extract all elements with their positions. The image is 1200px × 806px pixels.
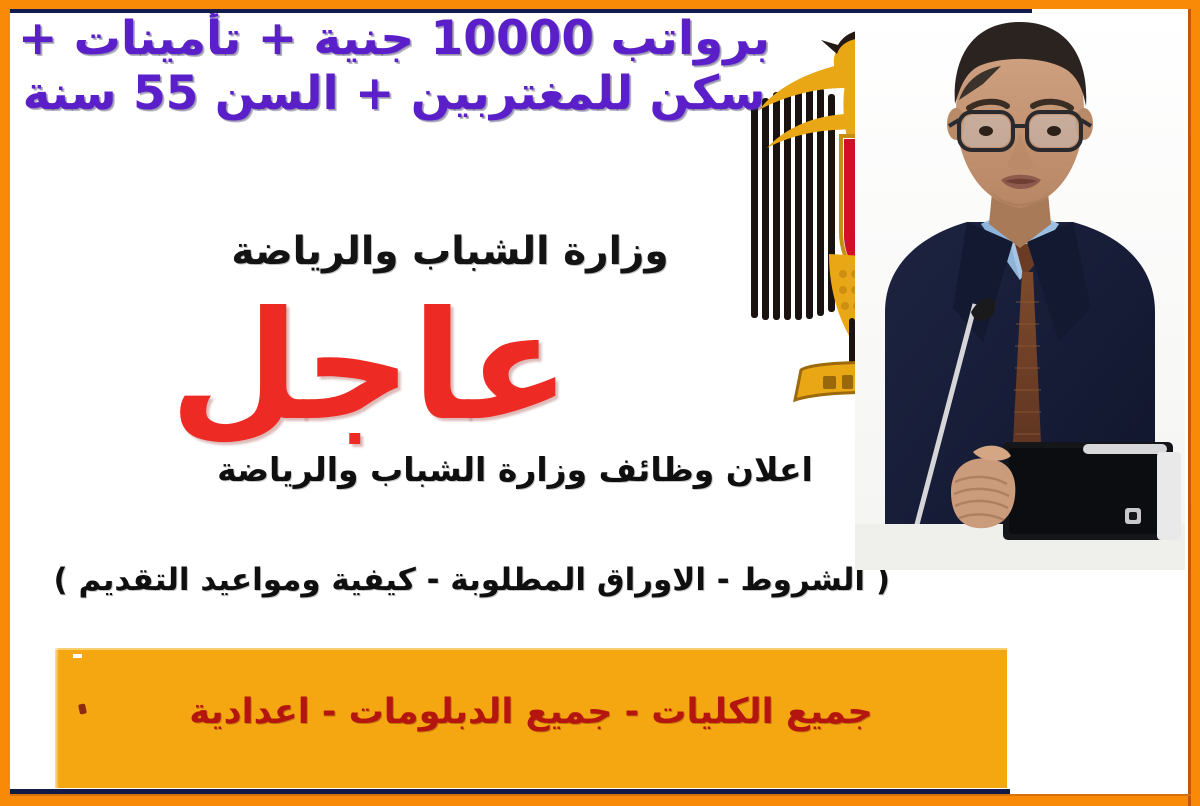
eligibility-banner: جميع الكليات - جميع الدبلومات - اعدادية bbox=[55, 648, 1007, 788]
ministry-name: وزارة الشباب والرياضة bbox=[170, 232, 730, 273]
frame-border-right bbox=[1191, 0, 1200, 806]
frame-border-bottom bbox=[0, 796, 1200, 806]
urgent-banner: عاجل bbox=[0, 292, 740, 452]
frame-inner-line-bottom bbox=[10, 794, 1191, 796]
government-official-photo bbox=[855, 12, 1185, 570]
announcement-title: اعلان وظائف وزارة الشباب والرياضة bbox=[170, 452, 860, 488]
frame-border-left bbox=[0, 0, 10, 806]
headline-line-1: برواتب 10000 جنية + تأمينات + bbox=[14, 14, 774, 65]
navy-divider-top bbox=[10, 9, 1032, 13]
eligibility-banner-text: جميع الكليات - جميع الدبلومات - اعدادية bbox=[55, 648, 1007, 788]
headline-salary-benefits: برواتب 10000 جنية + تأمينات + سكن للمغتر… bbox=[14, 14, 774, 120]
frame-border-top bbox=[0, 0, 1200, 9]
frame-inner-line-right bbox=[1188, 9, 1191, 806]
job-announcement-poster: برواتب 10000 جنية + تأمينات + سكن للمغتر… bbox=[0, 0, 1200, 806]
announcement-details: ( الشروط - الاوراق المطلوبة - كيفية وموا… bbox=[90, 563, 890, 597]
urgent-word: عاجل bbox=[0, 292, 740, 442]
headline-line-2: سكن للمغتربين + السن 55 سنة bbox=[14, 69, 774, 120]
